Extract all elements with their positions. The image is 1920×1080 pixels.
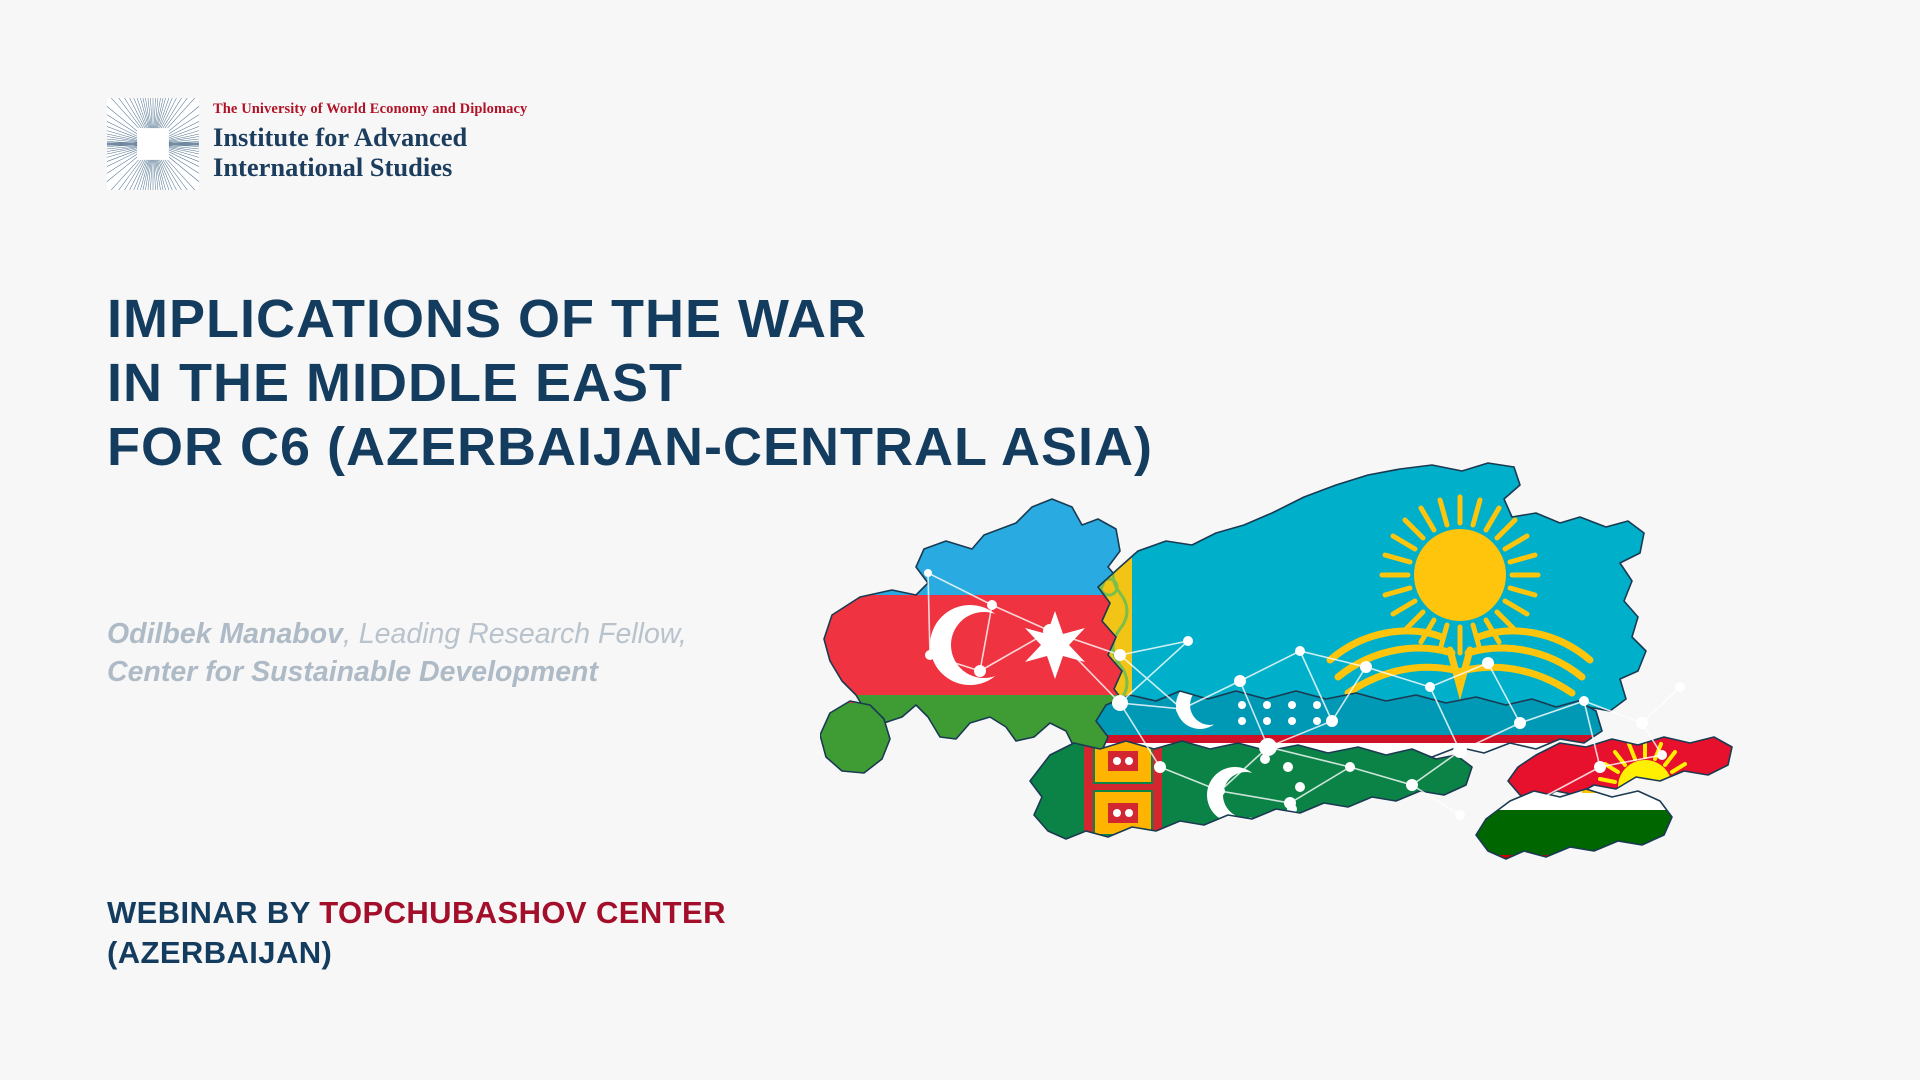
country-turkmenistan bbox=[1030, 741, 1472, 839]
presenter-credit: Odilbek Manabov, Leading Research Fellow… bbox=[107, 616, 887, 691]
presenter-affiliation: Center for Sustainable Development bbox=[107, 654, 887, 692]
webinar-organization: Topchubashov Center bbox=[319, 895, 726, 930]
logo-center-square bbox=[138, 129, 168, 159]
presenter-line-1: Odilbek Manabov, Leading Research Fellow… bbox=[107, 616, 887, 654]
institution-logo: The University of World Economy and Dipl… bbox=[107, 98, 527, 190]
slide-title: Implications of the War in the Middle Ea… bbox=[107, 288, 1287, 479]
title-slide: The University of World Economy and Dipl… bbox=[0, 0, 1920, 1080]
logo-university-line: The University of World Economy and Dipl… bbox=[213, 102, 527, 118]
flag-map-graphic bbox=[820, 455, 1920, 1015]
presenter-name: Odilbek Manabov bbox=[107, 618, 343, 650]
logo-wordmark: The University of World Economy and Dipl… bbox=[213, 98, 527, 182]
radiating-square-logo-icon bbox=[107, 98, 199, 190]
logo-institute-line-2: International Studies bbox=[213, 153, 527, 183]
country-tajikistan bbox=[1476, 789, 1672, 859]
logo-institute-name: Institute for Advanced International Stu… bbox=[213, 123, 527, 182]
webinar-prefix: Webinar by bbox=[107, 895, 319, 930]
logo-institute-line-1: Institute for Advanced bbox=[213, 123, 527, 153]
flag-map-illustration bbox=[820, 455, 1920, 1015]
slide-title-line-1: Implications of the War bbox=[107, 288, 1287, 352]
presenter-role: , Leading Research Fellow, bbox=[343, 618, 687, 650]
slide-title-line-2: in the Middle East bbox=[107, 352, 1287, 416]
